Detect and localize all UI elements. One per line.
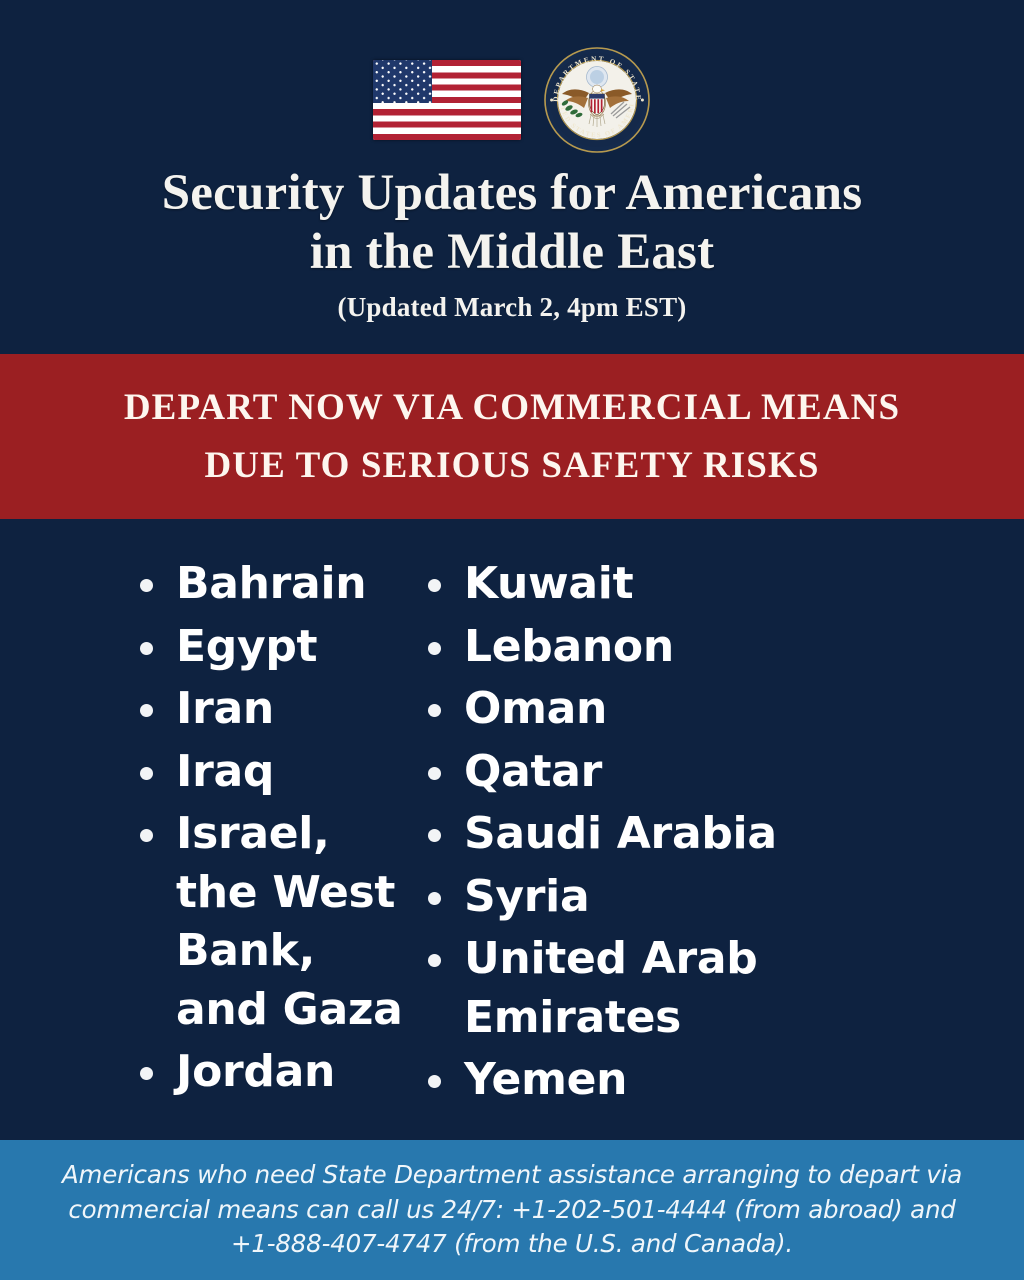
country-name: Jordan (176, 1043, 335, 1102)
bullet-icon (428, 829, 441, 842)
list-item: Qatar (428, 743, 880, 802)
alert-line-1: DEPART NOW VIA COMMERCIAL MEANS (124, 379, 900, 436)
security-update-poster: DEPARTMENT OF STATE UNITED STATES OF AME… (0, 0, 1024, 1280)
country-name: Israel, the West Bank, and Gaza (176, 805, 410, 1039)
list-item: Lebanon (428, 618, 880, 677)
list-item: Jordan (140, 1043, 410, 1102)
assistance-footer-text: Americans who need State Department assi… (46, 1158, 978, 1262)
list-item: Israel, the West Bank, and Gaza (140, 805, 410, 1039)
list-item: Bahrain (140, 555, 410, 614)
country-list-left-column: Bahrain Egypt Iran Iraq Israel, the West… (0, 555, 410, 1140)
country-name: Kuwait (464, 555, 633, 614)
title-block: Security Updates for Americans in the Mi… (0, 142, 1024, 323)
country-name: Oman (464, 680, 607, 739)
affected-countries-section: Bahrain Egypt Iran Iraq Israel, the West… (0, 519, 1024, 1140)
bullet-icon (428, 1075, 441, 1088)
country-list-right-column: Kuwait Lebanon Oman Qatar Saudi Arabia S… (410, 555, 880, 1140)
list-item: United Arab Emirates (428, 930, 880, 1047)
bullet-icon (140, 642, 153, 655)
country-name: Lebanon (464, 618, 674, 677)
list-item: Syria (428, 868, 880, 927)
country-name: United Arab Emirates (464, 930, 880, 1047)
bullet-icon (140, 1067, 153, 1080)
alert-banner: DEPART NOW VIA COMMERCIAL MEANS DUE TO S… (0, 354, 1024, 519)
bullet-icon (428, 579, 441, 592)
country-name: Egypt (176, 618, 317, 677)
list-item: Oman (428, 680, 880, 739)
country-name: Iraq (176, 743, 274, 802)
list-item: Iraq (140, 743, 410, 802)
alert-line-2: DUE TO SERIOUS SAFETY RISKS (204, 437, 819, 494)
list-item: Saudi Arabia (428, 805, 880, 864)
country-name: Iran (176, 680, 274, 739)
list-item: Egypt (140, 618, 410, 677)
assistance-footer: Americans who need State Department assi… (0, 1140, 1024, 1280)
page-title-line-1: Security Updates for Americans (162, 165, 863, 221)
country-name: Qatar (464, 743, 602, 802)
poster-header: DEPARTMENT OF STATE UNITED STATES OF AME… (0, 0, 1024, 323)
emblem-row: DEPARTMENT OF STATE UNITED STATES OF AME… (0, 58, 1024, 142)
us-flag-icon (373, 60, 521, 140)
flag-stars (373, 60, 432, 103)
department-of-state-seal-icon: DEPARTMENT OF STATE UNITED STATES OF AME… (543, 46, 651, 154)
bullet-icon (428, 954, 441, 967)
page-subtitle: (Updated March 2, 4pm EST) (40, 292, 984, 323)
country-name: Saudi Arabia (464, 805, 777, 864)
bullet-icon (140, 579, 153, 592)
country-name: Bahrain (176, 555, 366, 614)
page-title: Security Updates for Americans in the Mi… (40, 164, 984, 282)
bullet-icon (140, 829, 153, 842)
list-item: Kuwait (428, 555, 880, 614)
bullet-icon (140, 704, 153, 717)
bullet-icon (428, 892, 441, 905)
country-name: Yemen (464, 1051, 627, 1110)
bullet-icon (428, 642, 441, 655)
list-item: Yemen (428, 1051, 880, 1110)
country-name: Syria (464, 868, 589, 927)
page-title-line-2: in the Middle East (40, 223, 984, 282)
bullet-icon (140, 767, 153, 780)
list-item: Iran (140, 680, 410, 739)
bullet-icon (428, 767, 441, 780)
bullet-icon (428, 704, 441, 717)
